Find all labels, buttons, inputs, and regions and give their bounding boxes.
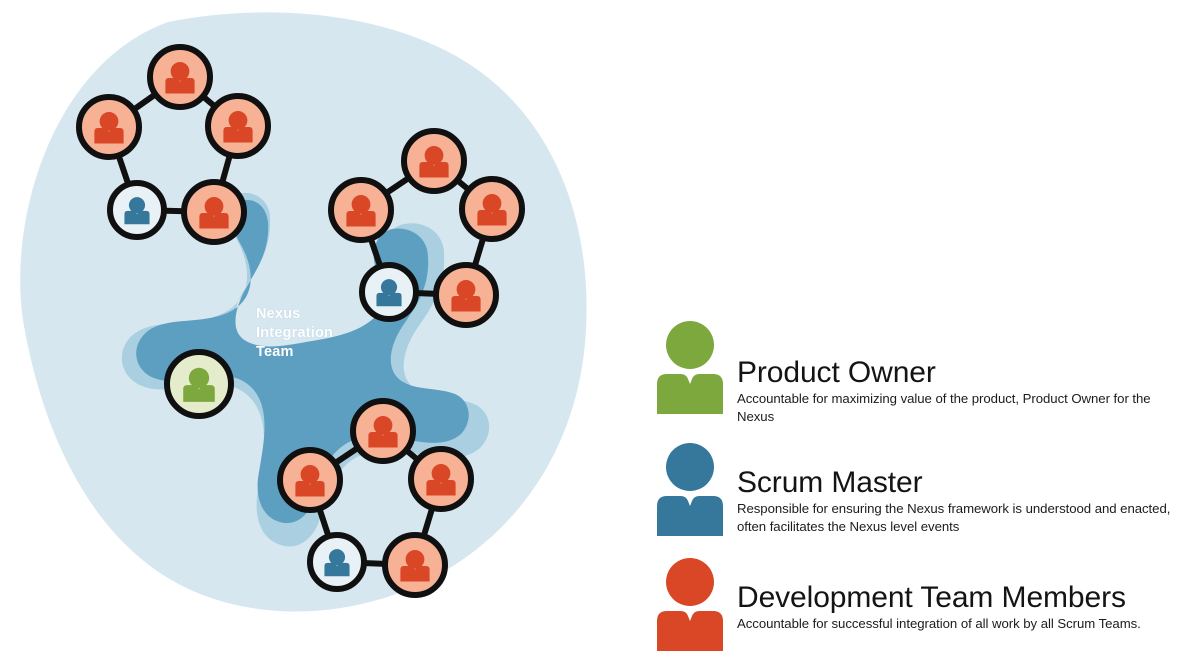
node-development-team-member[interactable] [462, 179, 522, 239]
node-development-team-member[interactable] [79, 97, 139, 157]
legend-text-product-owner: Product Owner Accountable for maximizing… [737, 357, 1181, 426]
node-product-owner[interactable] [167, 352, 231, 416]
legend-description-scrum-master: Responsible for ensuring the Nexus frame… [737, 500, 1181, 536]
node-development-team-member[interactable] [353, 401, 413, 461]
node-scrum-master[interactable] [362, 265, 416, 319]
scrum-master-person-icon [653, 440, 727, 536]
legend-text-scrum-master: Scrum Master Responsible for ensuring th… [737, 467, 1181, 536]
legend-description-product-owner: Accountable for maximizing value of the … [737, 390, 1181, 426]
product-owner-person-icon [653, 318, 727, 414]
node-development-team-member[interactable] [184, 182, 244, 242]
node-development-team-member[interactable] [208, 96, 268, 156]
legend-description-development-team-members: Accountable for successful integration o… [737, 615, 1181, 633]
node-development-team-member[interactable] [436, 265, 496, 325]
legend-title-product-owner: Product Owner [737, 357, 1181, 389]
node-scrum-master[interactable] [310, 535, 364, 589]
legend-text-development-team-members: Development Team Members Accountable for… [737, 582, 1181, 633]
node-development-team-member[interactable] [150, 47, 210, 107]
node-development-team-member[interactable] [331, 180, 391, 240]
node-development-team-member[interactable] [404, 131, 464, 191]
development-team-member-person-icon [653, 555, 727, 651]
node-development-team-member[interactable] [411, 449, 471, 509]
node-scrum-master[interactable] [110, 183, 164, 237]
nexus-integration-team-label: Nexus Integration Team [256, 305, 333, 362]
nexus-framework-diagram: Nexus Integration Team Product Owner Acc… [0, 0, 1181, 655]
legend-title-development-team-members: Development Team Members [737, 582, 1181, 614]
legend-title-scrum-master: Scrum Master [737, 467, 1181, 499]
node-development-team-member[interactable] [280, 450, 340, 510]
node-development-team-member[interactable] [385, 535, 445, 595]
